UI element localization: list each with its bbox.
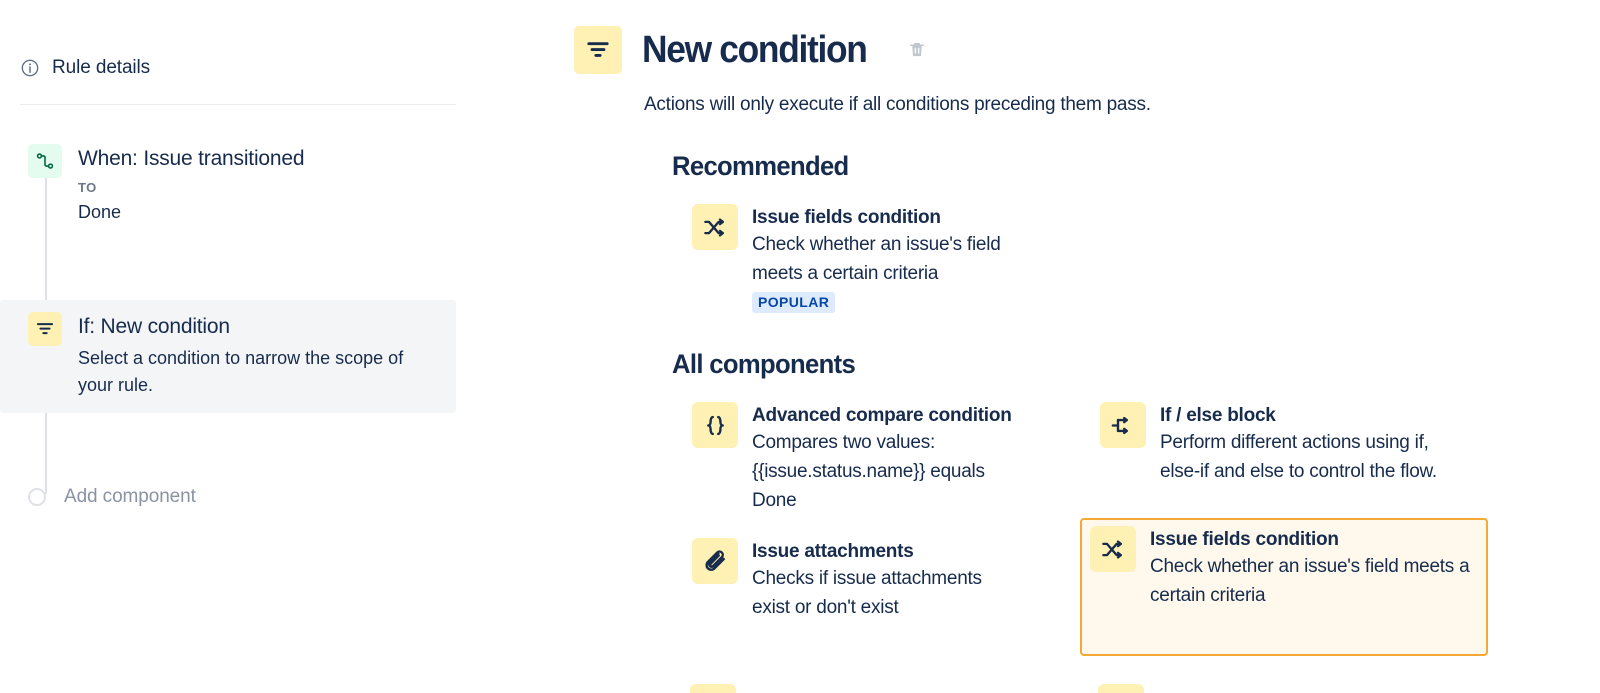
card-title: If / else block xyxy=(1160,403,1460,428)
card-title: Issue attachments xyxy=(752,539,1002,564)
automation-rule-builder: Rule details When: Issue transitioned TO… xyxy=(0,0,1600,693)
paperclip-icon xyxy=(692,538,738,584)
branch-fork-icon xyxy=(1100,402,1146,448)
chain-node-trigger[interactable]: When: Issue transitioned TO Done xyxy=(0,132,456,225)
card-description: Check whether an issue's field meets a c… xyxy=(752,230,1002,288)
card-description: Perform different actions using if, else… xyxy=(1160,428,1460,486)
component-card-issue-fields-condition-selected[interactable]: Issue fields condition Check whether an … xyxy=(1080,518,1488,656)
card-title: Issue fields condition xyxy=(752,205,1002,230)
component-card-icon-partial-right[interactable] xyxy=(1098,684,1144,693)
condition-title: If: New condition xyxy=(78,312,440,342)
card-description: Compares two values: {{issue.status.name… xyxy=(752,428,1012,515)
filter-icon xyxy=(28,312,62,346)
component-card-issue-fields-condition-recommended[interactable]: Issue fields condition Check whether an … xyxy=(682,196,1012,321)
component-card-icon-partial-left[interactable] xyxy=(690,684,736,693)
filter-icon xyxy=(574,26,622,74)
shuffle-arrows-icon xyxy=(1090,526,1136,572)
component-picker-panel: New condition Actions will only execute … xyxy=(560,0,1600,693)
chain-node-condition[interactable]: If: New condition Select a condition to … xyxy=(0,300,456,413)
curly-braces-icon xyxy=(692,402,738,448)
trash-icon[interactable] xyxy=(907,39,927,61)
add-component-label: Add component xyxy=(64,486,196,508)
status-badge: POPULAR xyxy=(752,292,835,313)
panel-header: New condition xyxy=(574,26,927,74)
condition-description: Select a condition to narrow the scope o… xyxy=(78,345,408,399)
panel-subtitle: Actions will only execute if all conditi… xyxy=(644,92,1151,118)
section-title-recommended: Recommended xyxy=(672,150,849,182)
card-description: Check whether an issue's field meets a c… xyxy=(1150,552,1478,610)
trigger-title: When: Issue transitioned xyxy=(78,144,440,174)
card-title: Advanced compare condition xyxy=(752,403,1012,428)
rule-details-row[interactable]: Rule details xyxy=(20,48,456,88)
section-title-all-components: All components xyxy=(672,348,855,380)
card-description: Checks if issue attachments exist or don… xyxy=(752,564,1002,622)
rule-chain-sidebar: Rule details When: Issue transitioned TO… xyxy=(0,0,520,693)
shuffle-arrows-icon xyxy=(692,204,738,250)
trigger-value: Done xyxy=(78,199,440,225)
sidebar-divider xyxy=(20,104,456,105)
rule-details-label: Rule details xyxy=(52,57,150,79)
page-title: New condition xyxy=(642,28,867,72)
card-title: Issue fields condition xyxy=(1150,527,1478,552)
plus-circle-outline-icon xyxy=(28,488,46,506)
issue-transitioned-icon xyxy=(28,144,62,178)
component-card-issue-attachments[interactable]: Issue attachments Checks if issue attach… xyxy=(682,530,1012,630)
info-circle-icon xyxy=(20,58,40,78)
add-component-button[interactable]: Add component xyxy=(28,486,196,508)
trigger-kicker: TO xyxy=(78,180,440,196)
component-card-advanced-compare-condition[interactable]: Advanced compare condition Compares two … xyxy=(682,394,1012,523)
component-card-if-else-block[interactable]: If / else block Perform different action… xyxy=(1090,394,1470,494)
